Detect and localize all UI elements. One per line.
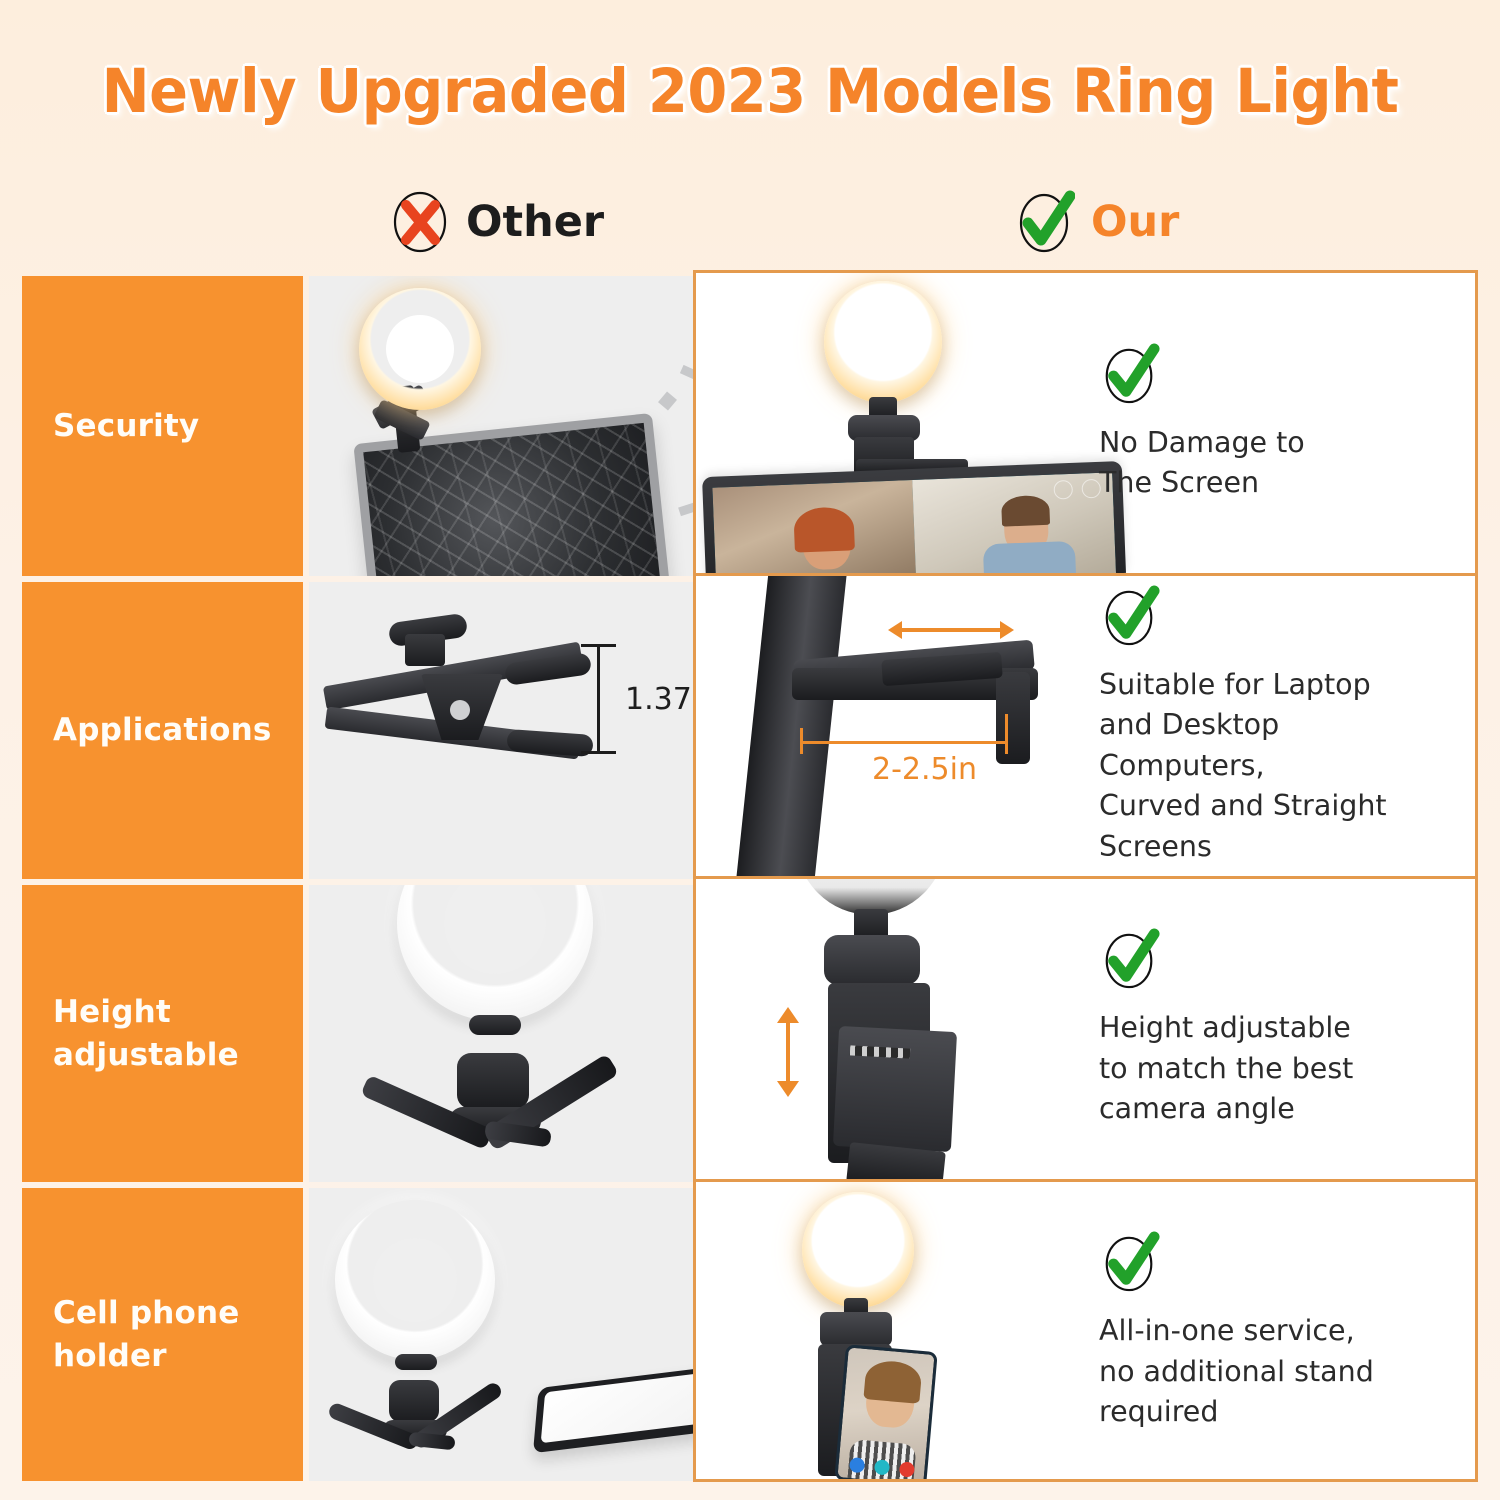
row-label-height-adjustable: Height adjustable [22, 885, 303, 1182]
slide-arrow-left-head [888, 621, 902, 639]
height-arrow-line [786, 1021, 790, 1083]
column-header-other: Other [390, 190, 604, 254]
our-panel: No Damage to The Screen 2-2.5in [693, 270, 1478, 1482]
our-row-cell-phone-holder: All-in-one service, no additional stand … [696, 1182, 1475, 1482]
our-benefit-text: Suitable for Laptop and Desktop Computer… [1099, 665, 1453, 867]
video-call-screen [712, 472, 1116, 576]
laptop-monitor [702, 461, 1126, 576]
call-button-teal[interactable] [873, 1459, 889, 1475]
height-arrow-down-head [777, 1081, 799, 1097]
red-x-circle-icon [390, 190, 450, 254]
tripod-mount-nut [469, 1015, 521, 1035]
green-check-circle-icon [1099, 1231, 1161, 1293]
our-benefit-text: No Damage to The Screen [1099, 423, 1453, 504]
call-button-red[interactable] [898, 1461, 914, 1477]
person-shirt [983, 541, 1076, 576]
person-hair [1001, 495, 1050, 527]
dimension-line-vertical [597, 644, 600, 754]
column-header-our: Our [1015, 190, 1179, 254]
green-check-circle-icon [1099, 343, 1161, 405]
measure-cap [800, 728, 803, 754]
tripod-ball-head [389, 1380, 439, 1422]
ring-light-warm [802, 1192, 914, 1308]
slide-arrow-line [896, 628, 1000, 632]
our-benefit-phone-holder: All-in-one service, no additional stand … [1085, 1182, 1453, 1482]
green-check-circle-icon [1099, 585, 1161, 647]
ring-light-warm [824, 281, 942, 403]
slide-arrow-right-head [1000, 621, 1014, 639]
tripod-mount-nut [395, 1354, 437, 1370]
dimension-cap [581, 644, 616, 647]
row-label-cell-phone-holder: Cell phone holder [22, 1188, 303, 1481]
phone-clamp-top [820, 1312, 892, 1346]
clamp-end-stop [996, 672, 1030, 764]
video-tile-left [712, 480, 916, 576]
our-benefit-text: Height adjustable to match the best came… [1099, 1008, 1453, 1129]
ring-light-warm [359, 288, 481, 410]
page-title: Newly Upgraded 2023 Models Ring Light [45, 56, 1455, 127]
our-benefit-security: No Damage to The Screen [1085, 273, 1453, 573]
measure-cap [1005, 714, 1008, 754]
monitor-edge [735, 576, 847, 879]
person-hair [793, 507, 855, 553]
clamp-pivot-screw [450, 700, 470, 720]
ring-light-white [397, 885, 593, 1021]
height-arrow-up-head [777, 1007, 799, 1023]
column-header-other-label: Other [466, 197, 604, 247]
tripod-ball-head [457, 1053, 529, 1109]
person-hair [863, 1359, 922, 1404]
our-row-security: No Damage to The Screen [696, 273, 1475, 576]
measure-line-horizontal [800, 741, 1008, 744]
call-button-blue[interactable] [848, 1457, 864, 1473]
row-label-applications: Applications [22, 582, 303, 879]
tripod-leg [408, 1432, 455, 1451]
dimension-cap [581, 751, 616, 754]
our-row-applications: 2-2.5in Suitable for Laptop and Desktop … [696, 576, 1475, 879]
glass-shard [658, 391, 677, 410]
our-benefit-applications: Suitable for Laptop and Desktop Computer… [1085, 576, 1453, 876]
column-header-our-label: Our [1091, 197, 1179, 247]
minimize-icon[interactable] [1053, 480, 1073, 500]
dimension-label-2-2-5in: 2-2.5in [872, 752, 977, 787]
ring-light-white [335, 1200, 495, 1360]
row-label-security: Security [22, 276, 303, 576]
clamp-post [405, 634, 445, 666]
our-benefit-height: Height adjustable to match the best came… [1085, 879, 1453, 1179]
our-row-height-adjustable: Height adjustable to match the best came… [696, 879, 1475, 1182]
our-benefit-text: All-in-one service, no additional stand … [1099, 1311, 1453, 1432]
green-check-circle-icon [1099, 928, 1161, 990]
green-check-circle-icon [1015, 190, 1075, 254]
infographic-page: Newly Upgraded 2023 Models Ring Light Ot… [0, 0, 1500, 1500]
mount-hinge [824, 935, 920, 985]
smartphone-in-holder [834, 1344, 938, 1482]
